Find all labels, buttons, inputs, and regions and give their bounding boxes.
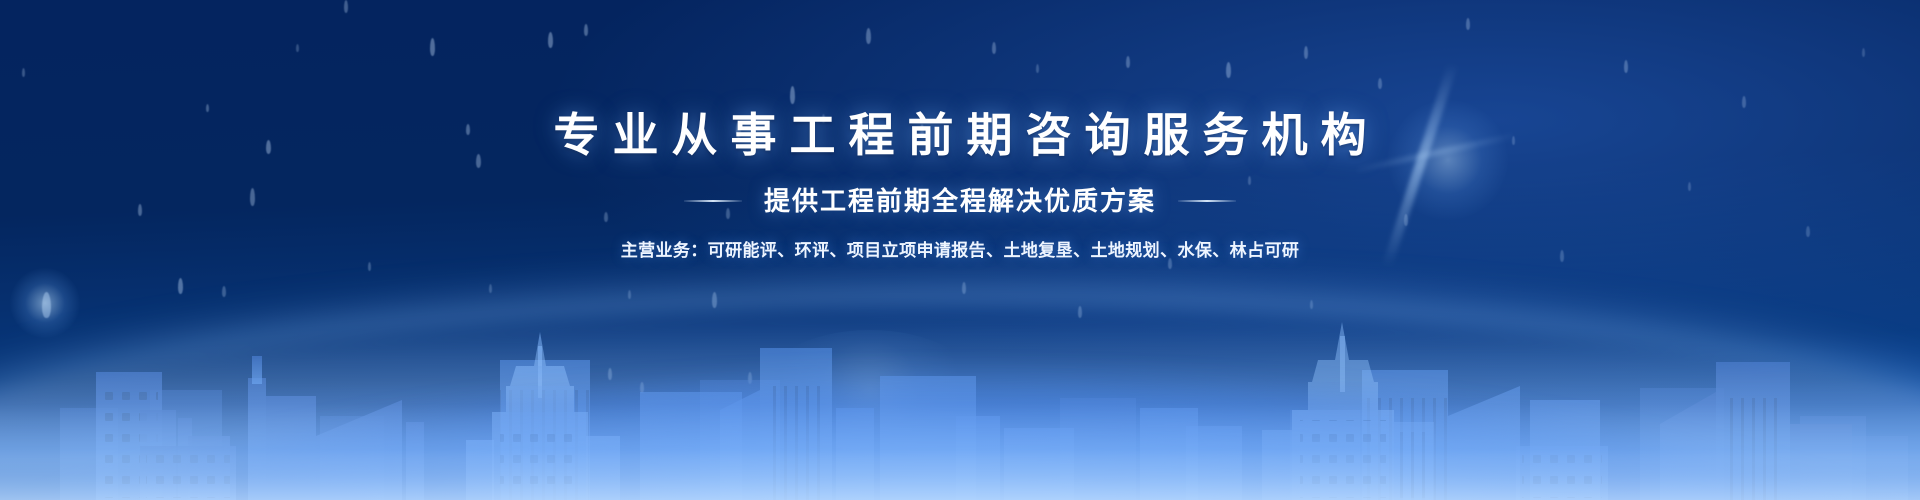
skyline-spire-tower-left bbox=[466, 332, 620, 500]
banner-headline: 专业从事工程前期咨询服务机构 bbox=[0, 0, 1920, 158]
left-rule-decoration bbox=[684, 200, 742, 202]
banner-subtitle: 提供工程前期全程解决优质方案 bbox=[764, 188, 1156, 214]
right-rule-decoration bbox=[1178, 200, 1236, 202]
banner-tagline: 主营业务：可研能评、环评、项目立项申请报告、土地复垦、土地规划、水保、林占可研 bbox=[0, 242, 1920, 259]
skyline-mullion-tower bbox=[720, 348, 874, 500]
hero-banner: 专业从事工程前期咨询服务机构 提供工程前期全程解决优质方案 主营业务：可研能评、… bbox=[0, 0, 1920, 500]
skyline-near-left-center bbox=[248, 356, 424, 500]
city-skyline bbox=[0, 240, 1920, 500]
banner-content: 专业从事工程前期咨询服务机构 提供工程前期全程解决优质方案 主营业务：可研能评、… bbox=[0, 0, 1920, 259]
banner-subtitle-row: 提供工程前期全程解决优质方案 bbox=[0, 188, 1920, 214]
